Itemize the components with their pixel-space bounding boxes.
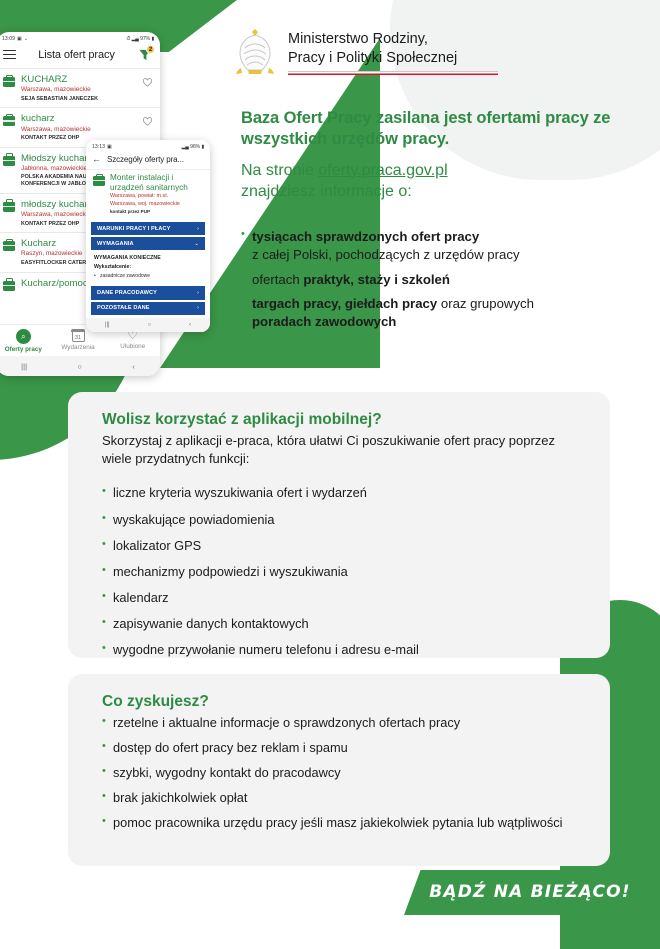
nav-item-offers[interactable]: ⌕ Oferty pracy bbox=[0, 329, 51, 353]
phone-mockup-offer-detail: 13:13 ▣ ▂▄ 96% ▮ ← Szczegóły oferty pra.… bbox=[86, 140, 210, 332]
briefcase-icon bbox=[3, 241, 15, 251]
list-item: tysiącach sprawdzonych ofert pracy z cał… bbox=[241, 228, 646, 264]
accordion-requirements[interactable]: WYMAGANIA ⌄ bbox=[91, 237, 205, 250]
back-icon[interactable]: ‹ bbox=[189, 322, 191, 328]
intro-bullet-list: tysiącach sprawdzonych ofert pracy z cał… bbox=[241, 228, 646, 338]
nav-label: Oferty pracy bbox=[5, 346, 42, 353]
status-bar: 13:13 ▣ ▂▄ 96% ▮ bbox=[86, 140, 210, 152]
photo-icon: ▣ bbox=[107, 144, 112, 150]
job-location: Warszawa, mazowieckie bbox=[21, 126, 136, 134]
signal-icon: ▂▄ bbox=[182, 144, 189, 150]
job-location-line-1: Warszawa, powiat: m.st. bbox=[110, 193, 203, 200]
requirements-heading: WYMAGANIA KONIECZNE bbox=[94, 255, 202, 261]
filter-badge: 2 bbox=[146, 45, 155, 54]
card-mobile-app: Wolisz korzystać z aplikacji mobilnej? S… bbox=[68, 392, 610, 658]
job-title: kucharz bbox=[21, 113, 136, 124]
back-icon[interactable]: ‹ bbox=[132, 362, 135, 371]
list-item: liczne kryteria wyszukiwania ofert i wyd… bbox=[102, 485, 576, 502]
intro-item-3-bold-1: targach pracy, giełdach pracy bbox=[252, 296, 437, 311]
intro-block: Baza Ofert Pracy zasilana jest ofertami … bbox=[241, 108, 641, 202]
heart-icon[interactable] bbox=[142, 77, 153, 88]
list-item: kalendarz bbox=[102, 590, 576, 607]
page-title: Baza Ofert Pracy zasilana jest ofertami … bbox=[241, 108, 641, 151]
card-mobile-heading: Wolisz korzystać z aplikacji mobilnej? bbox=[102, 410, 576, 430]
wifi-small-icon: ⌄ bbox=[24, 36, 28, 42]
list-item: ofertach praktyk, staży i szkoleń bbox=[241, 271, 646, 289]
intro-item-2-bold: praktyk, staży i szkoleń bbox=[303, 272, 450, 287]
app-bar-title: Szczegóły oferty pra... bbox=[107, 155, 184, 164]
recents-icon[interactable]: ||| bbox=[105, 322, 110, 328]
accordion-other-data[interactable]: POZOSTAŁE DANE › bbox=[91, 302, 205, 315]
education-value: zasadnicze zawodowe bbox=[94, 273, 202, 279]
status-bar-right: ⏱ ▂▄ 97% ▮ bbox=[126, 36, 154, 42]
list-item: rzetelne i aktualne informacje o sprawdz… bbox=[102, 715, 576, 732]
briefcase-icon bbox=[3, 77, 15, 87]
status-battery: 97% bbox=[140, 36, 150, 42]
app-bar: ← Szczegóły oferty pra... bbox=[86, 152, 210, 169]
job-location: Warszawa, mazowieckie bbox=[21, 86, 136, 94]
polish-eagle-emblem-icon bbox=[232, 28, 278, 80]
list-item: wyskakujące powiadomienia bbox=[102, 512, 576, 529]
briefcase-icon bbox=[3, 281, 15, 291]
filter-button[interactable]: 2 bbox=[137, 47, 153, 62]
hamburger-menu-icon[interactable] bbox=[3, 50, 16, 60]
list-item: wygodne przywołanie numeru telefonu i ad… bbox=[102, 642, 576, 659]
back-arrow-icon[interactable]: ← bbox=[92, 154, 101, 164]
accordion-working-conditions[interactable]: WARUNKI PRACY I PŁACY › bbox=[91, 222, 205, 235]
mobile-feature-list: liczne kryteria wyszukiwania ofert i wyd… bbox=[102, 485, 576, 658]
chevron-right-icon: › bbox=[197, 305, 199, 311]
android-system-bar: ||| ○ ‹ bbox=[86, 318, 210, 332]
accordion-label: POZOSTAŁE DANE bbox=[97, 305, 150, 311]
status-time: 13:09 bbox=[2, 36, 15, 42]
list-item: dostęp do ofert pracy bez reklam i spamu bbox=[102, 740, 576, 757]
education-label: Wykształcenie: bbox=[94, 264, 202, 270]
table-row[interactable]: KUCHARZ Warszawa, mazowieckie SEJA SEBAS… bbox=[0, 68, 160, 107]
requirements-body: WYMAGANIA KONIECZNE Wykształcenie: zasad… bbox=[86, 252, 210, 284]
list-item: pomoc pracownika urzędu pracy jeśli masz… bbox=[102, 815, 576, 832]
status-battery: 96% bbox=[190, 144, 200, 150]
nav-label: Ulubione bbox=[120, 343, 145, 350]
chevron-down-icon: ⌄ bbox=[194, 241, 199, 247]
nav-item-favourites[interactable]: ♡ Ulubione bbox=[105, 329, 160, 353]
status-bar: 13:09 ▣ ⌄ ⏱ ▂▄ 97% ▮ bbox=[0, 32, 160, 44]
battery-icon: ▮ bbox=[151, 36, 154, 42]
intro-item-3-mid: oraz grupowych bbox=[437, 296, 534, 311]
accordion-label: WYMAGANIA bbox=[97, 241, 134, 247]
search-icon: ⌕ bbox=[16, 329, 31, 344]
intro-subline: Na stronie oferty.praca.gov.pl znajdzies… bbox=[241, 160, 641, 202]
list-item: zapisywanie danych kontaktowych bbox=[102, 616, 576, 633]
alarm-icon: ⏱ bbox=[126, 36, 130, 42]
list-item: brak jakichkolwiek opłat bbox=[102, 790, 576, 807]
job-title: KUCHARZ bbox=[21, 74, 136, 85]
chevron-right-icon: › bbox=[197, 290, 199, 296]
calendar-badge: 31 bbox=[75, 335, 81, 341]
briefcase-icon bbox=[3, 202, 15, 212]
list-item: szybki, wygodny kontakt do pracodawcy bbox=[102, 765, 576, 782]
card-benefits: Co zyskujesz? rzetelne i aktualne inform… bbox=[68, 674, 610, 866]
job-employer: SEJA SEBASTIAN JANECZEK bbox=[21, 96, 136, 103]
status-bar-right: ▂▄ 96% ▮ bbox=[182, 144, 204, 150]
intro-item-3-bold-2: poradach zawodowych bbox=[252, 314, 396, 329]
status-bar-left: 13:13 ▣ bbox=[92, 144, 112, 150]
list-item: mechanizmy podpowiedzi i wyszukiwania bbox=[102, 564, 576, 581]
signal-icon: ▂▄ bbox=[132, 36, 139, 42]
status-bar-left: 13:09 ▣ ⌄ bbox=[2, 36, 28, 42]
job-title: Monter instalacji i urządzeń sanitarnych bbox=[110, 173, 203, 192]
calendar-icon: 31 bbox=[72, 329, 85, 342]
benefits-list: rzetelne i aktualne informacje o sprawdz… bbox=[102, 715, 576, 831]
nav-item-events[interactable]: 31 Wydarzenia bbox=[51, 329, 106, 353]
accordion-label: WARUNKI PRACY I PŁACY bbox=[97, 226, 170, 232]
briefcase-icon bbox=[93, 176, 105, 186]
briefcase-icon bbox=[3, 156, 15, 166]
offer-summary: Monter instalacji i urządzeń sanitarnych… bbox=[86, 169, 210, 220]
card-benefits-heading: Co zyskujesz? bbox=[102, 692, 576, 712]
accordion-label: DANE PRACODAWCY bbox=[97, 290, 157, 296]
intro-item-1-bold: tysiącach sprawdzonych ofert pracy bbox=[252, 229, 479, 244]
ministry-header: Ministerstwo Rodziny, Pracy i Polityki S… bbox=[232, 28, 498, 80]
home-icon[interactable]: ○ bbox=[77, 362, 82, 371]
job-employer: kontakt przez PUP bbox=[110, 209, 203, 215]
list-item: lokalizator GPS bbox=[102, 538, 576, 555]
intro-sub-prefix: Na stronie bbox=[241, 162, 318, 179]
chevron-right-icon: › bbox=[197, 226, 199, 232]
list-item: targach pracy, giełdach pracy oraz grupo… bbox=[241, 295, 646, 331]
intro-sub-suffix: znajdziesz informacje o: bbox=[241, 183, 412, 200]
status-time: 13:13 bbox=[92, 144, 105, 150]
home-icon[interactable]: ○ bbox=[148, 322, 152, 328]
accordion-employer-data[interactable]: DANE PRACODAWCY › bbox=[91, 286, 205, 299]
footer-slogan: BĄDŹ NA BIEŻĄCO! bbox=[404, 882, 656, 902]
card-mobile-lead: Skorzystaj z aplikacji e-praca, która uł… bbox=[102, 432, 576, 467]
app-bar: Lista ofert pracy 2 bbox=[0, 44, 160, 68]
intro-item-2-pre: ofertach bbox=[252, 272, 303, 287]
intro-item-1-rest: z całej Polski, pochodzących z urzędów p… bbox=[252, 247, 520, 262]
battery-icon: ▮ bbox=[201, 144, 204, 150]
job-location-line-2: Warszawa, woj. mazowieckie bbox=[110, 201, 203, 208]
photo-icon: ▣ bbox=[17, 36, 22, 42]
portal-link[interactable]: oferty.praca.gov.pl bbox=[318, 162, 447, 179]
briefcase-icon bbox=[3, 116, 15, 126]
ministry-name-line-1: Ministerstwo Rodziny, bbox=[288, 30, 498, 49]
android-system-bar: ||| ○ ‹ bbox=[0, 356, 160, 376]
recents-icon[interactable]: ||| bbox=[21, 362, 27, 371]
heart-icon[interactable] bbox=[142, 116, 153, 127]
ministry-name-line-2: Pracy i Polityki Społecznej bbox=[288, 49, 498, 68]
ministry-red-white-rule bbox=[288, 71, 498, 75]
app-bar-title: Lista ofert pracy bbox=[23, 49, 130, 61]
nav-label: Wydarzenia bbox=[61, 344, 94, 351]
